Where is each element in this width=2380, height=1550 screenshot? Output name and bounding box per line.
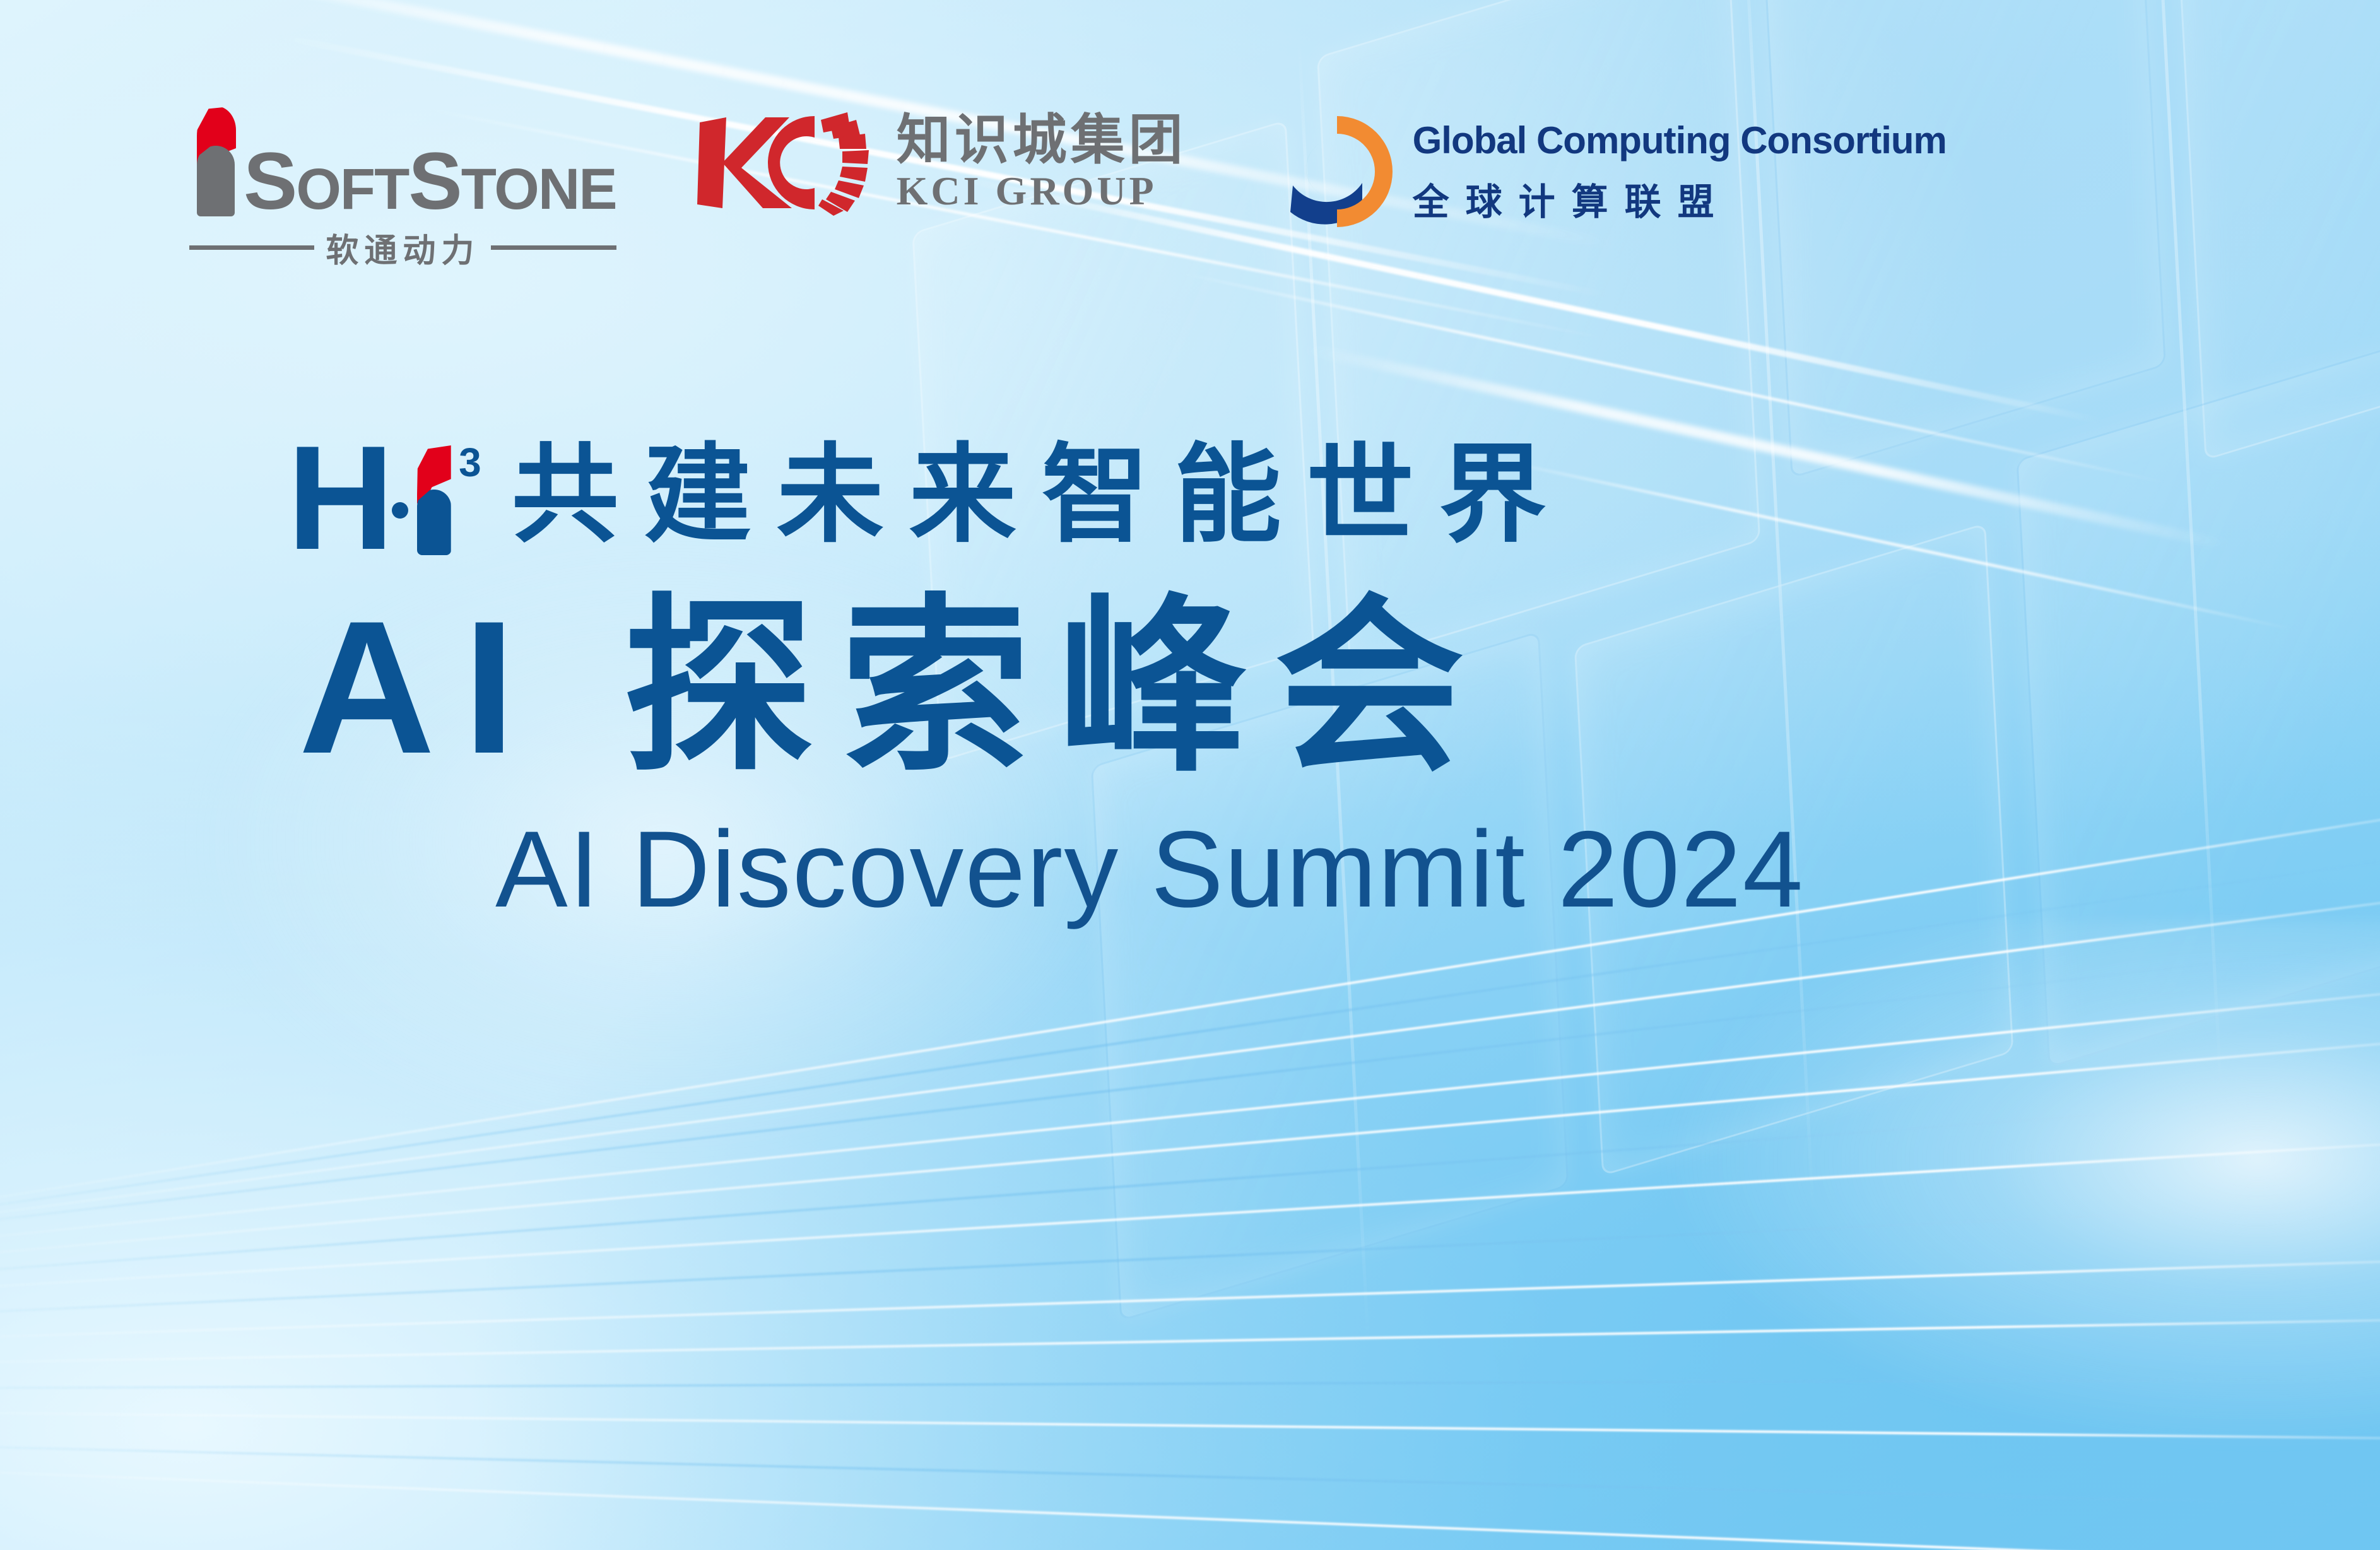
hi3-logo-mark: H 3 xyxy=(287,435,454,555)
hi3-letter-h: H xyxy=(287,440,388,555)
gcc-triple-c-icon xyxy=(1268,109,1394,235)
hi3-superscript-three: 3 xyxy=(459,439,481,486)
background-vanishing-glow xyxy=(1576,920,2380,1488)
event-title-en: AI Discovery Summit 2024 xyxy=(495,815,1804,924)
isoftstone-rule-right xyxy=(491,245,616,250)
isoftstone-flag-icon xyxy=(189,106,236,216)
sponsor-logo-gcc: Global Computing Consortium 全球计算联盟 xyxy=(1268,109,1947,235)
kci-name-cn: 知识城集团 xyxy=(897,113,1187,167)
isoftstone-rule-left xyxy=(189,245,314,250)
kci-sunburst-icon xyxy=(697,110,880,216)
hi3-i-flag-icon xyxy=(415,442,454,555)
tagline-row: H 3 共建未来智能世界 xyxy=(287,435,1804,555)
event-banner: SOFTSTONE 软通动力 xyxy=(0,0,2380,1550)
isoftstone-wordmark: SOFTSTONE xyxy=(244,147,616,216)
gcc-name-cn: 全球计算联盟 xyxy=(1413,172,1947,225)
sponsor-logo-isoftstone: SOFTSTONE 软通动力 xyxy=(189,106,616,271)
sponsor-logo-row: SOFTSTONE 软通动力 xyxy=(189,106,1947,271)
event-tagline-cn: 共建未来智能世界 xyxy=(512,442,1572,549)
hi3-dot-icon xyxy=(392,502,408,519)
kci-name-en: KCI GROUP xyxy=(897,170,1187,212)
isoftstone-name-cn: 软通动力 xyxy=(326,224,480,271)
sponsor-logo-kci-group: 知识城集团 KCI GROUP xyxy=(697,110,1187,216)
event-title-cn: AI 探索峰会 xyxy=(298,594,1804,780)
headline-block: H 3 共建未来智能世界 AI 探索峰会 AI Discovery Summit… xyxy=(287,435,1804,924)
gcc-name-en: Global Computing Consortium xyxy=(1413,119,1947,162)
